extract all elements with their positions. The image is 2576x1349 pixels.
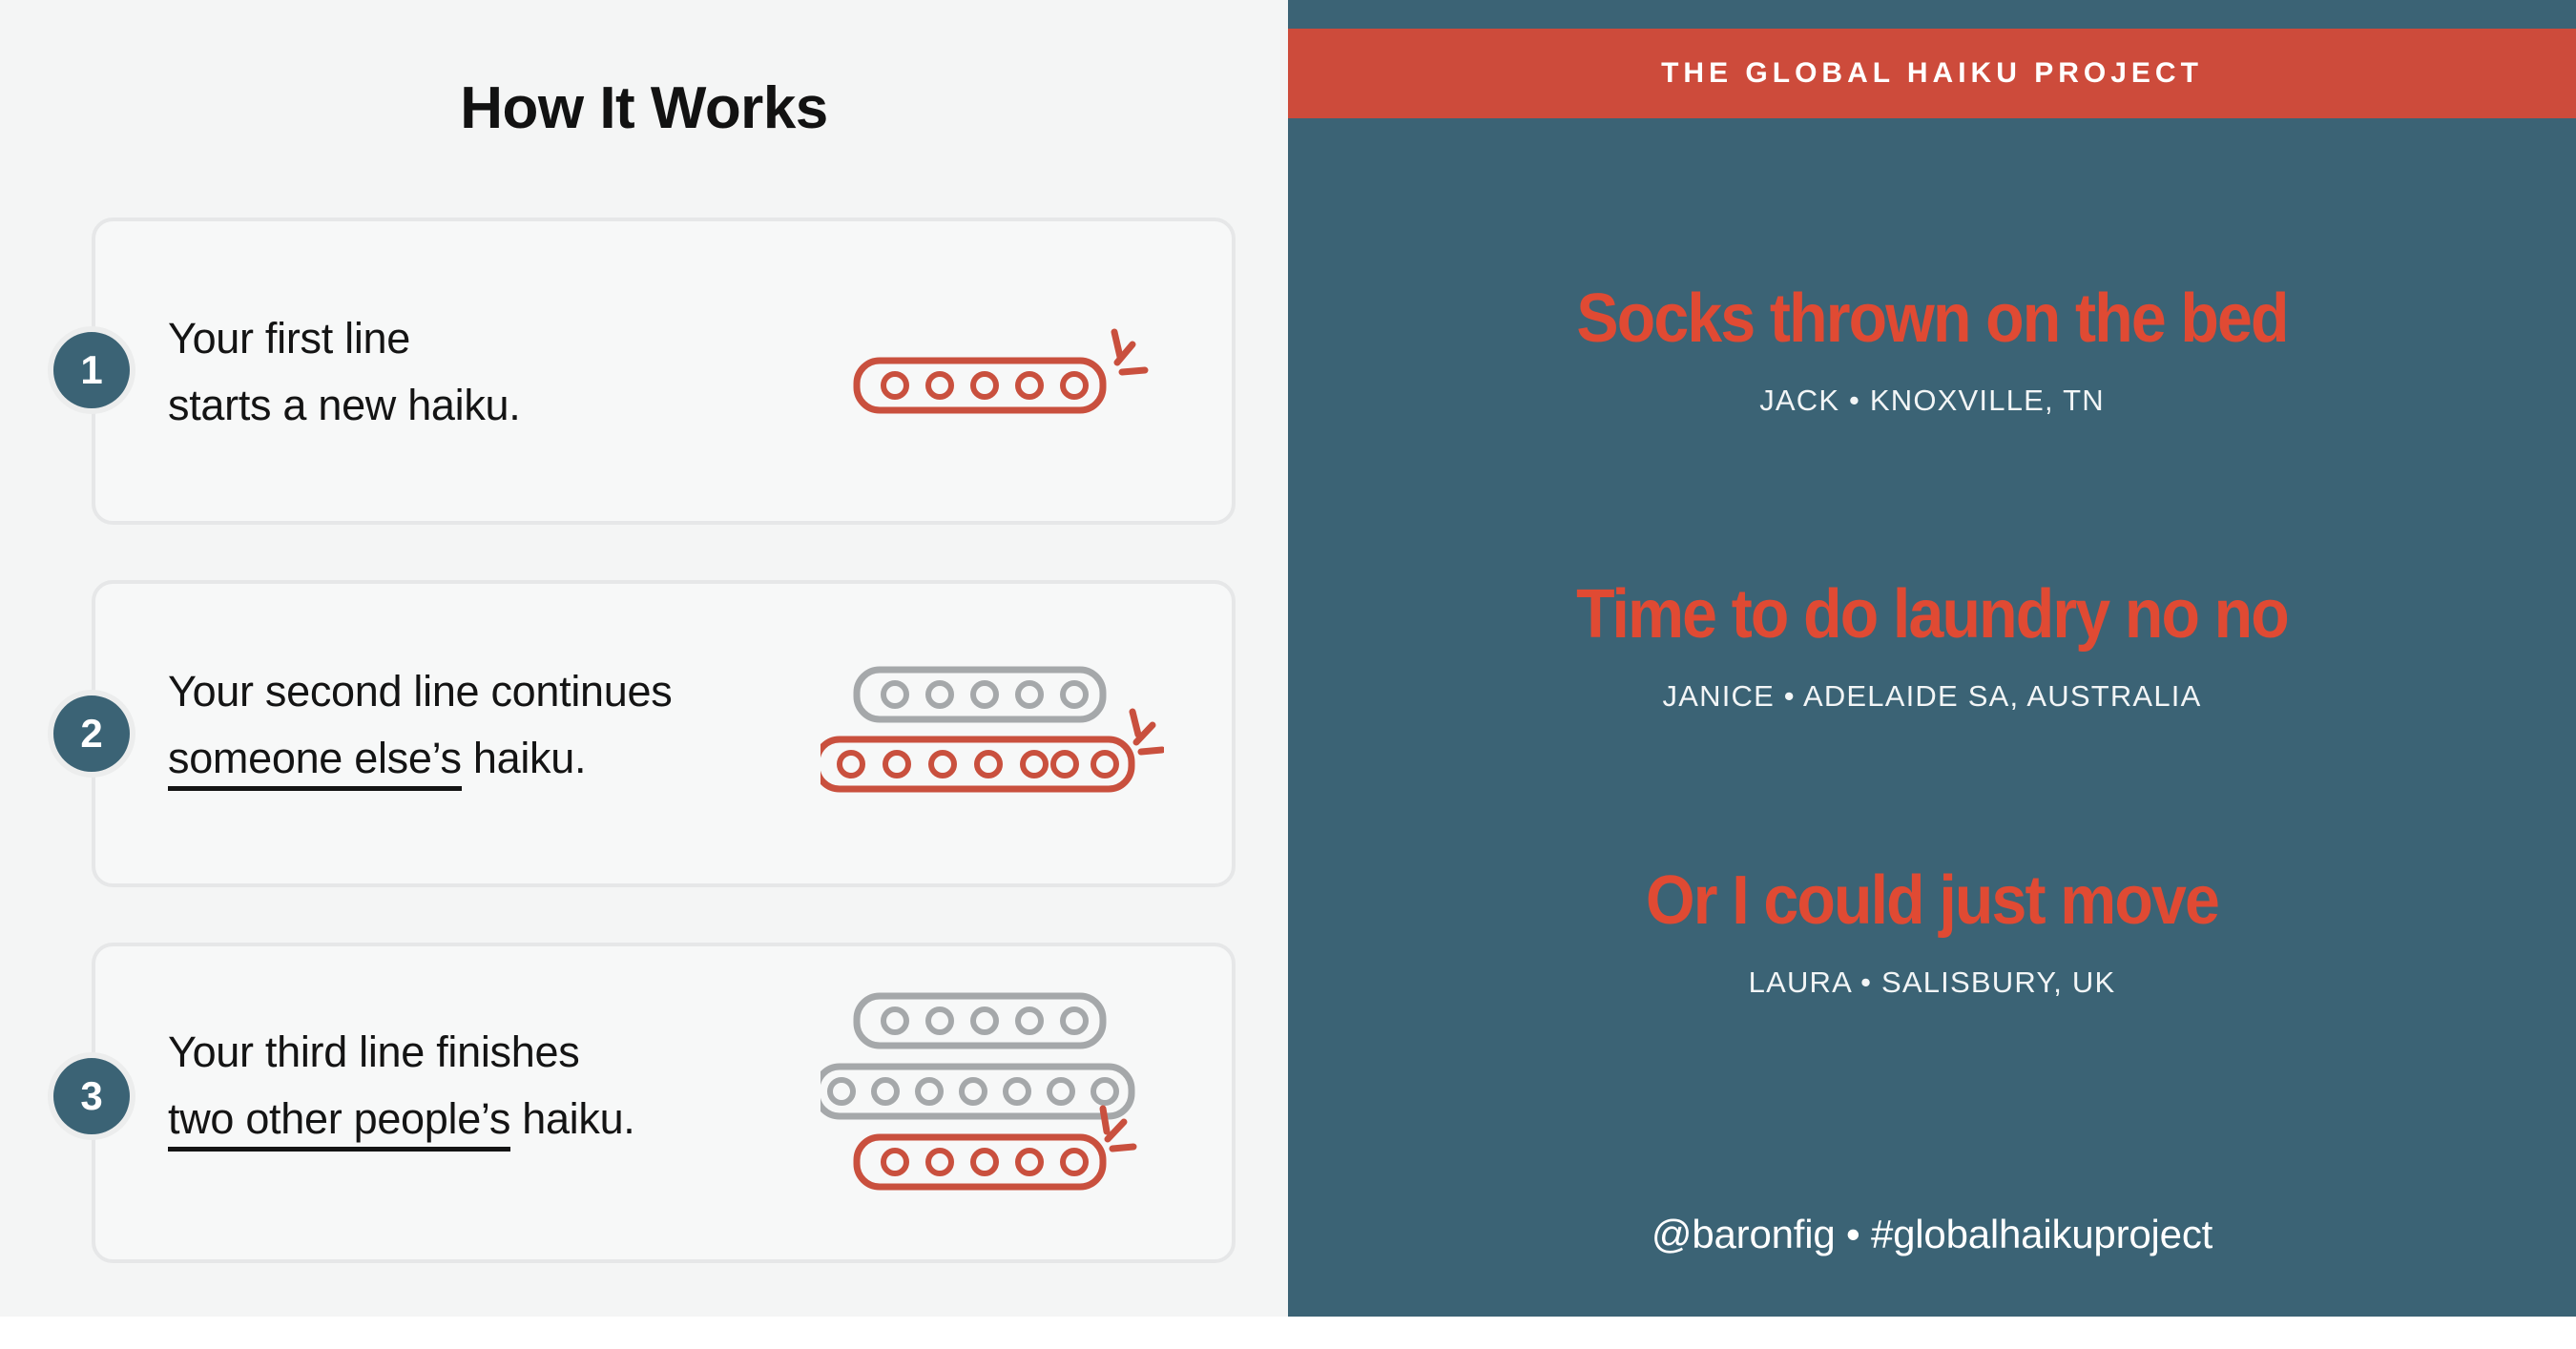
haiku-line-text: Time to do laundry no no — [1340, 572, 2524, 656]
step-line-2-tail: haiku. — [462, 734, 586, 782]
step-line-1: Your third line finishes — [168, 1019, 635, 1086]
icon-row-group — [821, 983, 1164, 1212]
haiku-entry: Socks thrown on the bed JACK • KNOXVILLE… — [1288, 277, 2576, 418]
pill-gray-7 — [821, 1067, 1132, 1116]
step-description: Your first line starts a new haiku. — [168, 305, 520, 439]
pill-red-7 — [821, 739, 1132, 789]
pill-gray-5 — [857, 670, 1103, 719]
step-number-badge: 3 — [48, 1052, 135, 1140]
step-line-2-plain: starts a new haiku. — [168, 381, 520, 429]
step-description: Your third line finishes two other peopl… — [168, 1019, 635, 1152]
step-line-2-underlined: two other people’s — [168, 1094, 510, 1152]
step-line-2: someone else’s haiku. — [168, 725, 672, 792]
haiku-attribution: JANICE • ADELAIDE SA, AUSTRALIA — [1288, 679, 2576, 714]
haiku-line-text: Socks thrown on the bed — [1340, 277, 2524, 361]
pill-red-5 — [857, 1137, 1103, 1187]
haiku-line-icons — [840, 315, 1164, 429]
haiku-entry: Time to do laundry no no JANICE • ADELAI… — [1288, 572, 2576, 714]
page-title: How It Works — [0, 74, 1288, 142]
poster-canvas: How It Works 1 Your first line starts a … — [0, 0, 2576, 1349]
icon-row-group — [821, 649, 1164, 820]
how-it-works-panel: How It Works 1 Your first line starts a … — [0, 0, 1288, 1317]
brand-banner: THE GLOBAL HAIKU PROJECT — [1288, 29, 2576, 118]
step-line-2-underlined: someone else’s — [168, 734, 462, 791]
step-line-1: Your first line — [168, 305, 520, 372]
icon-row-group — [840, 315, 1164, 429]
pill-gray-5 — [857, 996, 1103, 1046]
sparkle-icon — [1132, 712, 1162, 752]
step-description: Your second line continues someone else’… — [168, 658, 672, 792]
brand-banner-label: THE GLOBAL HAIKU PROJECT — [1661, 57, 2203, 90]
step-number-badge: 1 — [48, 326, 135, 414]
step-number-badge: 2 — [48, 690, 135, 778]
step-line-2-tail: haiku. — [510, 1094, 634, 1143]
haiku-entry: Or I could just move LAURA • SALISBURY, … — [1288, 859, 2576, 1000]
step-line-2: starts a new haiku. — [168, 372, 520, 439]
haiku-line-icons — [821, 983, 1164, 1212]
haiku-showcase-panel: THE GLOBAL HAIKU PROJECT Socks thrown on… — [1288, 0, 2576, 1317]
step-line-1: Your second line continues — [168, 658, 672, 725]
step-line-2: two other people’s haiku. — [168, 1086, 635, 1152]
pill-red-5 — [857, 361, 1103, 410]
haiku-attribution: JACK • KNOXVILLE, TN — [1288, 384, 2576, 418]
sparkle-icon — [1114, 332, 1145, 372]
haiku-line-text: Or I could just move — [1340, 859, 2524, 943]
social-handles: @baronfig • #globalhaikuproject — [1288, 1212, 2576, 1257]
haiku-attribution: LAURA • SALISBURY, UK — [1288, 965, 2576, 1000]
haiku-line-icons — [821, 649, 1164, 820]
